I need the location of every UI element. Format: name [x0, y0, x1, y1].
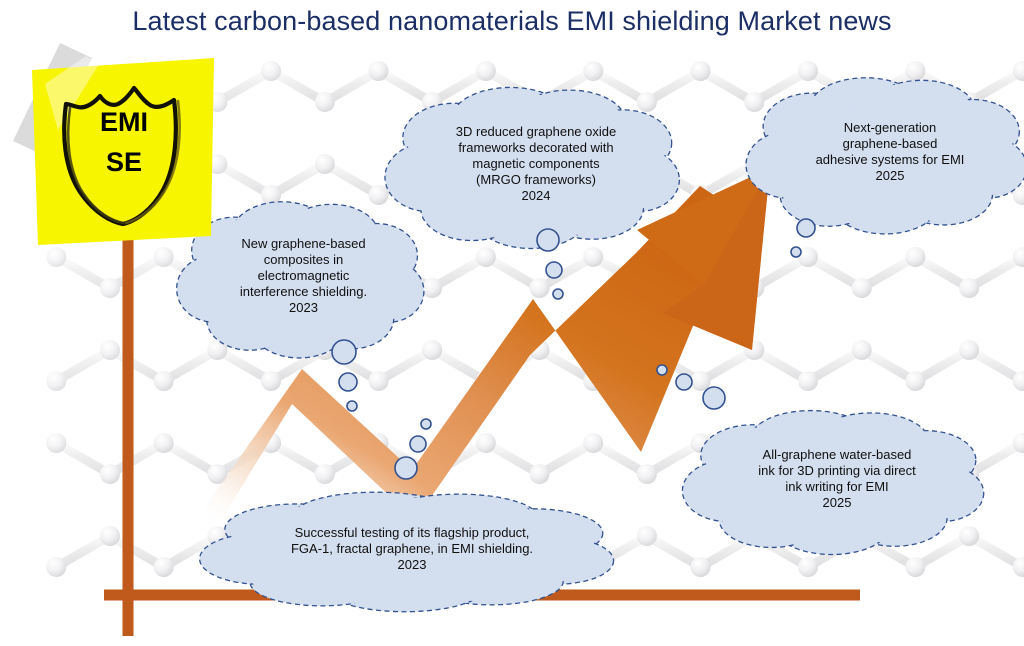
- emi-se-sign[interactable]: [0, 0, 1024, 646]
- infographic-canvas: New graphene-based composites in electro…: [0, 0, 1024, 646]
- page-title: Latest carbon-based nanomaterials EMI sh…: [0, 6, 1024, 37]
- sign-label-emi: EMI: [84, 108, 164, 136]
- sign-label-se: SE: [84, 148, 164, 176]
